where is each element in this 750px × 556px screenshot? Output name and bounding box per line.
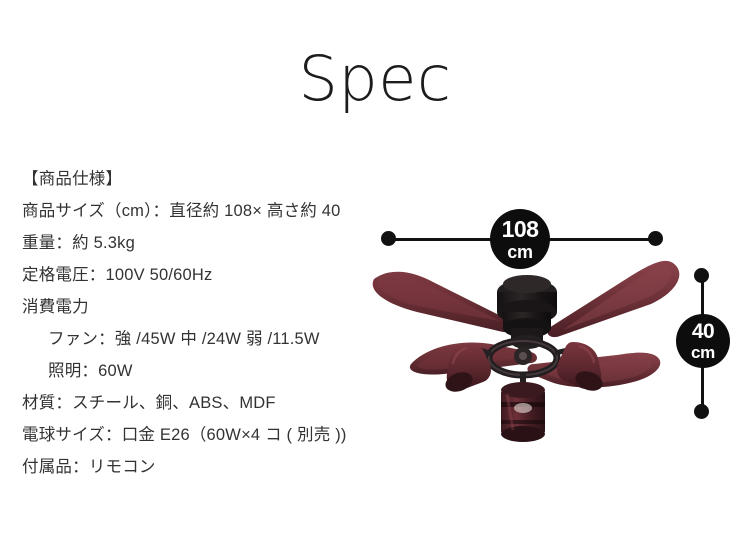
width-dimension-badge: 108 cm — [490, 209, 550, 269]
spec-line-power: 消費電力 — [22, 291, 402, 323]
ceiling-fan-svg — [355, 240, 700, 455]
light-fixture-right — [557, 342, 605, 394]
width-unit: cm — [507, 243, 532, 261]
height-dimension-dot-top — [694, 268, 709, 283]
height-value: 40 — [692, 321, 714, 342]
height-dimension-dot-bottom — [694, 404, 709, 419]
spec-line-voltage: 定格電圧：100V 50/60Hz — [22, 259, 402, 291]
height-dimension-badge: 40 cm — [676, 314, 730, 368]
spec-list: 【商品仕様】 商品サイズ（cm）：直径約 108× 高さ約 40 重量：約 5.… — [22, 163, 402, 483]
spec-page: Spec 【商品仕様】 商品サイズ（cm）：直径約 108× 高さ約 40 重量… — [0, 0, 750, 556]
light-fixture-center — [501, 382, 545, 442]
spec-line-bulb-size: 電球サイズ：口金 E26（60W×4 コ ( 別売 )) — [22, 419, 402, 451]
spec-line-heading: 【商品仕様】 — [22, 163, 402, 195]
spec-line-light-power: 照明：60W — [22, 355, 402, 387]
width-value: 108 — [502, 218, 539, 241]
ceiling-fan-image — [355, 240, 700, 455]
fan-blade-upper-left — [373, 272, 512, 332]
height-unit: cm — [691, 344, 715, 361]
page-title: Spec — [0, 44, 750, 114]
spec-line-weight: 重量：約 5.3kg — [22, 227, 402, 259]
spec-line-size: 商品サイズ（cm）：直径約 108× 高さ約 40 — [22, 195, 402, 227]
spec-line-fan-power: ファン：強 /45W 中 /24W 弱 /11.5W — [22, 323, 402, 355]
spec-line-material: 材質：スチール、銅、ABS、MDF — [22, 387, 402, 419]
spec-line-accessory: 付属品：リモコン — [22, 451, 402, 483]
width-dimension-dot-right — [648, 231, 663, 246]
width-dimension-dot-left — [381, 231, 396, 246]
fan-blade-upper-right — [548, 261, 680, 337]
